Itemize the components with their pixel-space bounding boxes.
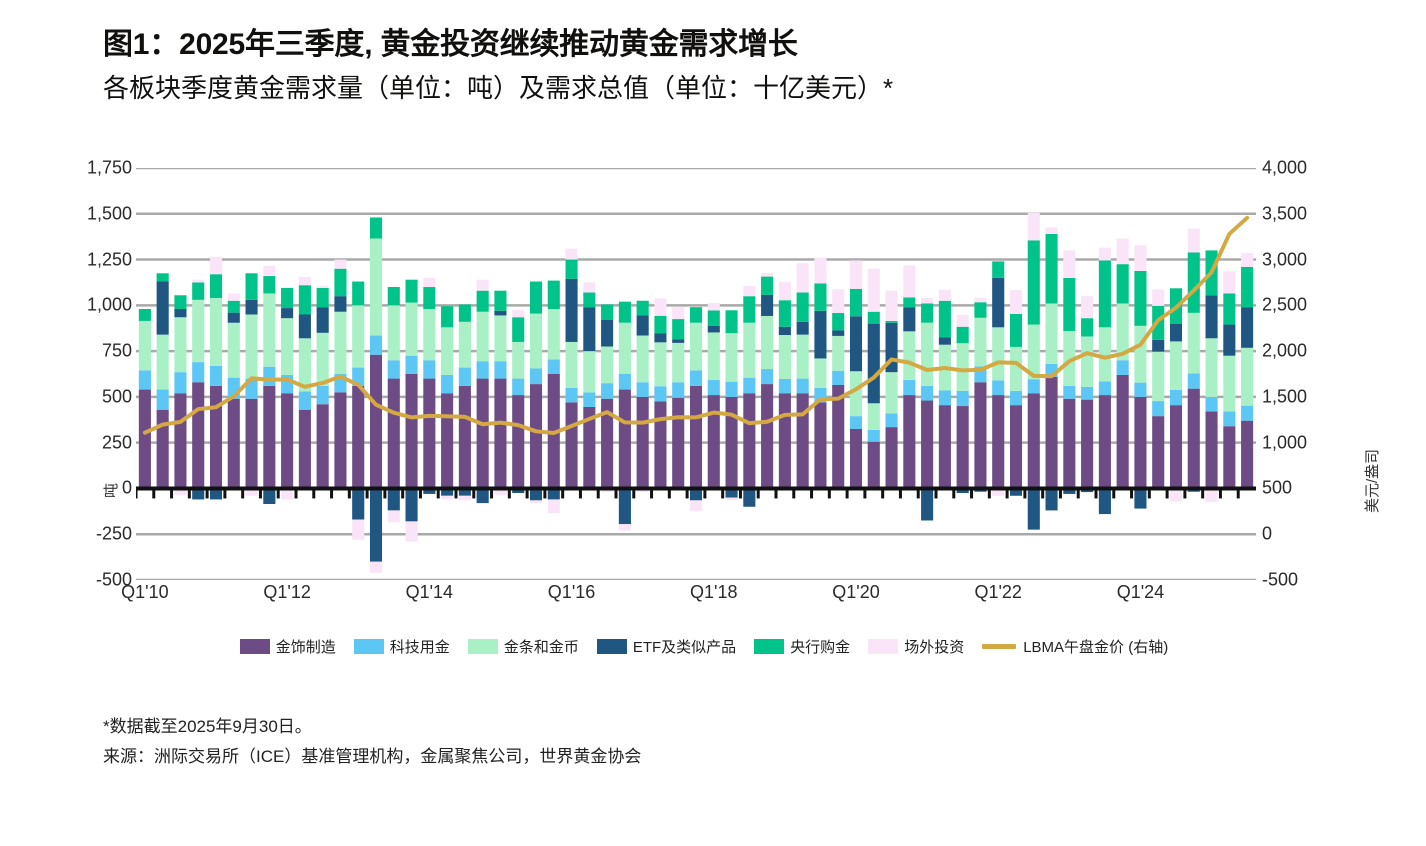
bar-segment (548, 499, 560, 513)
bar-segment (157, 410, 169, 489)
bar-segment (850, 260, 862, 288)
bar-segment (1206, 412, 1218, 489)
bar-segment (512, 317, 524, 342)
bar-segment (690, 307, 702, 323)
bar-segment (1223, 412, 1235, 427)
bar-segment (637, 301, 649, 316)
bar-segment (974, 298, 986, 303)
bar-segment (441, 496, 453, 500)
bar-segment (1241, 348, 1253, 406)
bar-segment (921, 298, 933, 303)
bar-segment (726, 333, 738, 382)
bar-segment (388, 305, 400, 360)
bar-segment (317, 307, 329, 333)
bar-segment (1241, 406, 1253, 421)
bar-segment (548, 281, 560, 309)
y-tick-left: 1,750 (44, 158, 132, 179)
bar-segment (1028, 240, 1040, 324)
bar-segment (992, 278, 1004, 327)
bar-segment (174, 309, 186, 317)
bar-segment (1099, 395, 1111, 488)
y-tick-right: 500 (1262, 478, 1350, 499)
bar-segment (1206, 488, 1218, 502)
bar-segment (423, 379, 435, 489)
bar-segment (1046, 234, 1058, 304)
bar-segment (672, 343, 684, 382)
bar-segment (246, 300, 258, 315)
bar-segment (1223, 293, 1235, 324)
bar-segment (352, 520, 364, 540)
bar-segment (1170, 324, 1182, 341)
bar-segment (637, 382, 649, 397)
bar-segment (743, 286, 755, 296)
bar-segment (388, 287, 400, 305)
bar-segment (192, 382, 204, 488)
bar-segment (921, 401, 933, 489)
bar-segment (619, 302, 631, 323)
y-tick-left: 1,000 (44, 295, 132, 316)
bar-segment (1134, 383, 1146, 397)
bar-segment (637, 336, 649, 383)
bar-segment (886, 413, 898, 427)
bar-segment (1134, 326, 1146, 383)
bar-segment (370, 355, 382, 489)
bar-segment (566, 249, 578, 260)
title-block: 图1：2025年三季度, 黄金投资继续推动黄金需求增长 各板块季度黄金需求量（单… (103, 26, 1353, 105)
bar-segment (868, 269, 880, 312)
bar-segment (263, 386, 275, 489)
bar-segment (761, 273, 773, 277)
bar-segment (530, 282, 542, 314)
bar-segment (477, 488, 489, 503)
bar-segment (1063, 278, 1075, 331)
bar-segment (1010, 314, 1022, 347)
bar-segment (690, 370, 702, 386)
footnote-note: *数据截至2025年9月30日。 (103, 712, 1203, 742)
bar-segment (1081, 400, 1093, 489)
bar-segment (939, 405, 951, 488)
bar-segment (726, 382, 738, 397)
bar-segment (566, 279, 578, 342)
bar-segment (352, 305, 364, 367)
bar-segment (441, 327, 453, 375)
legend-item[interactable]: LBMA午盘金价 (右轴) (982, 636, 1168, 657)
bar-segment (797, 263, 809, 292)
bar-segment (957, 406, 969, 488)
chart-plot-area: 吨 美元/盎司 1,7501,5001,2501,0007505002500-2… (0, 168, 1426, 608)
legend-line-marker (982, 644, 1016, 649)
bar-segment (352, 386, 364, 489)
bar-segment (974, 382, 986, 488)
bar-segment (317, 286, 329, 288)
bar-segment (263, 488, 275, 504)
bar-segment (814, 402, 826, 488)
bar-segment (174, 372, 186, 393)
y-tick-left: 500 (44, 386, 132, 407)
bar-segment (690, 323, 702, 371)
bar-segment (512, 310, 524, 317)
bar-segment (157, 335, 169, 390)
bar-segment (779, 393, 791, 488)
bar-segment (743, 488, 755, 506)
bar-segment (1063, 399, 1075, 489)
chart-legend: 金饰制造科技用金金条和金币ETF及类似产品央行购金场外投资LBMA午盘金价 (右… (0, 636, 1426, 657)
bar-segment (903, 395, 915, 488)
bar-segment (583, 351, 595, 392)
bar-segment (1188, 252, 1200, 312)
bar-segment (619, 390, 631, 489)
bar-segment (886, 291, 898, 321)
bar-segment (726, 397, 738, 489)
y-axis-right-ticks: 4,0003,5003,0002,5002,0001,5001,0005000-… (1262, 168, 1354, 580)
bar-segment (228, 301, 240, 313)
bar-segment (406, 356, 418, 374)
bar-segment (708, 380, 720, 395)
bar-segment (1134, 488, 1146, 508)
bar-segment (1241, 307, 1253, 348)
bar-segment (814, 311, 826, 359)
legend-label: 金饰制造 (276, 636, 336, 657)
bar-segment (406, 374, 418, 488)
bar-segment (761, 384, 773, 488)
bar-segment (868, 403, 880, 430)
bar-segment (334, 312, 346, 374)
bar-segment (210, 274, 222, 298)
bar-segment (406, 521, 418, 541)
legend-item[interactable]: ETF及类似产品 (597, 636, 736, 657)
bar-segment (459, 368, 471, 386)
bar-segment (1152, 340, 1164, 352)
bar-segment (992, 395, 1004, 488)
bar-segment (477, 280, 489, 291)
bar-segment (494, 311, 506, 316)
legend-item[interactable]: 场外投资 (868, 636, 964, 657)
bar-segment (1170, 405, 1182, 488)
bar-segment (957, 391, 969, 406)
footnotes: *数据截至2025年9月30日。 来源：洲际交易所（ICE）基准管理机构，金属聚… (103, 712, 1203, 772)
bar-segment (1223, 356, 1235, 412)
bar-segment (512, 379, 524, 395)
bar-segment (1206, 295, 1218, 338)
x-tick: Q1'12 (263, 582, 310, 603)
bar-segment (157, 390, 169, 410)
bar-segment (583, 392, 595, 407)
bar-segment (530, 314, 542, 369)
bar-segment (263, 293, 275, 366)
bar-segment (1170, 390, 1182, 405)
bar-segment (1152, 352, 1164, 401)
bar-segment (1028, 213, 1040, 240)
y-tick-left: -500 (44, 570, 132, 591)
bar-segment (334, 392, 346, 488)
y-tick-left: 1,500 (44, 203, 132, 224)
bar-segment (530, 369, 542, 385)
bar-segment (797, 393, 809, 488)
footnote-source: 来源：洲际交易所（ICE）基准管理机构，金属聚焦公司，世界黄金协会 (103, 742, 1203, 772)
legend-color-swatch (240, 639, 270, 654)
bar-segment (761, 316, 773, 369)
bar-segment (583, 282, 595, 292)
bar-segment (654, 401, 666, 488)
bar-segment (850, 429, 862, 489)
legend-item[interactable]: 金饰制造 (240, 636, 336, 657)
bar-segment (352, 282, 364, 306)
bar-segment (1081, 387, 1093, 400)
bar-segment (974, 302, 986, 318)
bar-segment (1081, 336, 1093, 386)
y-tick-left: 1,250 (44, 249, 132, 270)
bar-segment (548, 359, 560, 374)
legend-color-swatch (354, 639, 384, 654)
bar-segment (228, 399, 240, 489)
bar-segment (1241, 267, 1253, 307)
bar-segment (957, 343, 969, 391)
bar-segment (672, 339, 684, 343)
bar-segment (228, 313, 240, 323)
bar-segment (477, 291, 489, 312)
bar-segment (139, 309, 151, 321)
bar-segment (1152, 289, 1164, 305)
legend-color-swatch (468, 639, 498, 654)
bar-segment (743, 323, 755, 378)
bar-segment (1188, 313, 1200, 373)
bar-segment (317, 404, 329, 488)
bar-segment (281, 393, 293, 488)
legend-item[interactable]: 科技用金 (354, 636, 450, 657)
bar-segment (192, 362, 204, 382)
bar-segment (779, 379, 791, 393)
bar-segment (779, 282, 791, 300)
bar-segment (903, 331, 915, 380)
bar-segment (797, 322, 809, 335)
bar-segment (1099, 327, 1111, 381)
bar-segment (992, 327, 1004, 380)
bar-segment (477, 361, 489, 378)
bar-segment (619, 488, 631, 524)
bar-segment (850, 289, 862, 316)
bar-segment (388, 360, 400, 378)
bar-segment (654, 342, 666, 386)
bar-segment (139, 390, 151, 489)
bar-segment (726, 498, 738, 501)
bar-segment (814, 283, 826, 310)
bar-segment (903, 308, 915, 332)
bar-segment (992, 380, 1004, 395)
bar-segment (317, 386, 329, 404)
legend-label: ETF及类似产品 (633, 636, 736, 657)
bar-segment (761, 277, 773, 295)
bar-segment (441, 375, 453, 393)
bar-segment (192, 300, 204, 362)
bar-segment (1188, 373, 1200, 388)
bar-segment (388, 510, 400, 522)
bar-segment (654, 333, 666, 342)
bar-segment (583, 307, 595, 351)
bar-segment (726, 310, 738, 333)
bar-segment (281, 318, 293, 375)
bar-segment (174, 295, 186, 309)
bar-segment (263, 276, 275, 293)
bar-segment (406, 488, 418, 521)
bar-segment (601, 347, 613, 384)
bar-segment (334, 269, 346, 296)
bar-segment (566, 402, 578, 488)
bar-segment (761, 369, 773, 384)
bar-segment (868, 430, 880, 442)
bar-segment (939, 390, 951, 405)
bar-segment (246, 273, 258, 300)
bar-segment (832, 371, 844, 385)
bar-segment (548, 309, 560, 359)
bar-segment (441, 393, 453, 488)
bar-segment (1223, 325, 1235, 356)
bar-segment (1099, 248, 1111, 261)
bar-segment (246, 399, 258, 489)
bar-segment (334, 260, 346, 269)
bar-segment (957, 327, 969, 343)
x-tick: Q1'22 (974, 582, 1021, 603)
bar-segment (566, 342, 578, 388)
bar-segment (743, 378, 755, 394)
bar-segment (708, 395, 720, 488)
bar-segment (210, 298, 222, 366)
bar-segment (228, 323, 240, 378)
x-tick: Q1'18 (690, 582, 737, 603)
legend-label: LBMA午盘金价 (右轴) (1023, 636, 1168, 657)
bar-segment (637, 315, 649, 335)
y-tick-right: 4,000 (1262, 158, 1350, 179)
y-tick-left: 0 (44, 478, 132, 499)
bar-segment (868, 442, 880, 489)
bar-segment (886, 321, 898, 323)
bar-segment (1010, 347, 1022, 391)
bar-segment (619, 374, 631, 390)
bar-segment (797, 335, 809, 379)
bar-segment (388, 379, 400, 489)
bar-segment (192, 282, 204, 299)
bar-segment (903, 380, 915, 395)
y-tick-right: -500 (1262, 570, 1350, 591)
bar-segment (388, 488, 400, 510)
bar-segment (1117, 264, 1129, 303)
legend-item[interactable]: 央行购金 (754, 636, 850, 657)
page-subtitle: 各板块季度黄金需求量（单位：吨）及需求总值（单位：十亿美元）* (103, 72, 1353, 106)
bar-segment (299, 410, 311, 489)
bar-segment (210, 366, 222, 386)
bar-segment (601, 320, 613, 347)
bar-segment (1046, 228, 1058, 234)
bar-segment (1152, 416, 1164, 488)
bar-segment (423, 287, 435, 309)
bar-segment (779, 300, 791, 327)
bar-segment (921, 323, 933, 386)
bar-segment (1241, 253, 1253, 267)
bar-segment (406, 280, 418, 303)
bar-segment (903, 265, 915, 297)
bar-segment (1099, 381, 1111, 395)
bar-segment (1188, 389, 1200, 489)
bar-segment (530, 384, 542, 488)
bar-segment (654, 298, 666, 315)
bar-segment (1010, 391, 1022, 405)
bar-segment (672, 319, 684, 339)
bar-segment (459, 386, 471, 489)
x-tick: Q1'16 (548, 582, 595, 603)
legend-item[interactable]: 金条和金币 (468, 636, 579, 657)
bar-segment (1241, 421, 1253, 489)
bar-segment (477, 312, 489, 361)
bar-segment (601, 383, 613, 399)
bar-segment (690, 500, 702, 511)
bar-segment (370, 562, 382, 573)
bar-segment (157, 282, 169, 335)
bar-segment (868, 312, 880, 324)
x-tick: Q1'20 (832, 582, 879, 603)
bar-segment (992, 261, 1004, 277)
bar-segment (708, 332, 720, 380)
bar-segment (406, 303, 418, 356)
bar-segment (832, 289, 844, 313)
bar-segment (370, 336, 382, 355)
y-axis-left-ticks: 1,7501,5001,2501,0007505002500-250-500 (40, 168, 132, 580)
bar-segment (708, 326, 720, 332)
bar-segment (352, 488, 364, 519)
bar-segment (1063, 250, 1075, 277)
bar-segment (263, 266, 275, 276)
bar-segment (192, 280, 204, 283)
bar-segment (814, 358, 826, 387)
y-tick-right: 2,500 (1262, 295, 1350, 316)
bar-segment (921, 488, 933, 520)
bar-segment (974, 318, 986, 367)
bar-segment (1028, 393, 1040, 488)
bar-segment (1206, 338, 1218, 397)
bar-segment (672, 398, 684, 489)
y-tick-right: 1,000 (1262, 432, 1350, 453)
bar-segment (459, 496, 471, 501)
bar-segment (1099, 488, 1111, 514)
bar-segment (1010, 405, 1022, 488)
page-title: 图1：2025年三季度, 黄金投资继续推动黄金需求增长 (103, 26, 1353, 64)
bar-segment (281, 288, 293, 308)
bar-segment (512, 342, 524, 379)
bar-segment (139, 370, 151, 389)
bar-segment (1117, 360, 1129, 375)
bar-segment (619, 524, 631, 530)
bar-segment (886, 372, 898, 413)
bar-segment (1099, 260, 1111, 327)
bar-segment (886, 427, 898, 488)
bar-segment (423, 309, 435, 360)
bar-segment (299, 285, 311, 314)
bar-segment (317, 288, 329, 307)
bar-segment (370, 217, 382, 238)
bar-segment (797, 379, 809, 394)
bar-segment (939, 301, 951, 338)
bar-segment (246, 314, 258, 378)
bar-segment (1206, 397, 1218, 412)
bar-segment (1117, 239, 1129, 265)
chart-svg (136, 168, 1256, 580)
bar-segment (619, 323, 631, 374)
y-tick-right: 1,500 (1262, 386, 1350, 407)
y-tick-left: 250 (44, 432, 132, 453)
bar-segment (157, 273, 169, 281)
bar-segment (690, 386, 702, 489)
bar-segment (1170, 341, 1182, 390)
bar-segment (708, 310, 720, 326)
legend-label: 科技用金 (390, 636, 450, 657)
